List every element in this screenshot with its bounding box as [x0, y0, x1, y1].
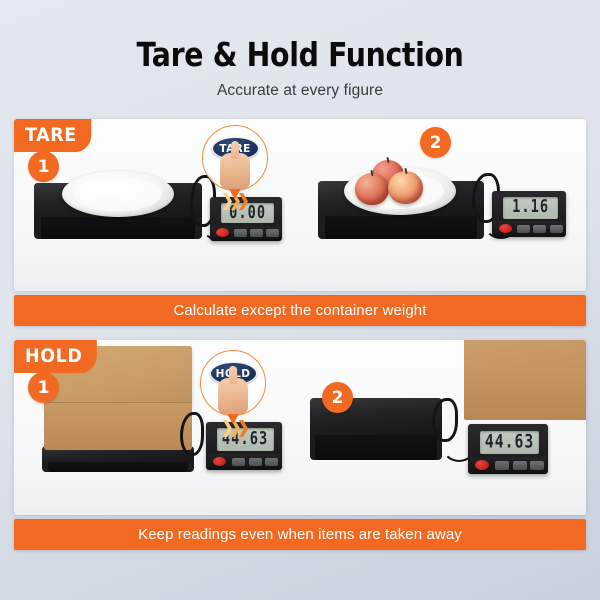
- page-title: Tare & Hold Function: [42, 38, 558, 71]
- function-button-1[interactable]: [517, 225, 530, 233]
- hold-caption-bar: Keep readings even when items are taken …: [14, 519, 586, 550]
- function-button-1[interactable]: [495, 461, 509, 470]
- function-button-1[interactable]: [234, 229, 247, 237]
- apple-right: [388, 171, 423, 204]
- function-button-2[interactable]: [250, 229, 263, 237]
- tare-tab-badge: TARE: [14, 119, 91, 152]
- function-button-2[interactable]: [533, 225, 546, 233]
- page-header: Tare & Hold Function Accurate at every f…: [0, 0, 600, 100]
- hold-step2-scene: 2 44.63: [300, 340, 586, 515]
- function-button-3[interactable]: [265, 458, 278, 466]
- step-number-badge: 1: [28, 372, 59, 403]
- scale-cable: [180, 412, 204, 456]
- pressing-hand-icon: [220, 153, 250, 189]
- scale-base: [48, 462, 188, 472]
- index-finger: [231, 141, 239, 159]
- scale-base: [41, 217, 196, 239]
- cardboard-box-front: [44, 402, 192, 450]
- function-button-2[interactable]: [249, 458, 262, 466]
- lcd-value: 44.63: [485, 431, 535, 453]
- power-button[interactable]: [213, 457, 226, 466]
- lcd-value: 1.16: [512, 198, 549, 218]
- scale-base: [325, 216, 478, 239]
- step-number-badge: 2: [420, 127, 451, 158]
- lcd-screen: 44.63: [480, 431, 539, 455]
- hold-photo-panel: HOLD 1 HOLD 44.63: [14, 340, 586, 515]
- chevron-icon-3: [239, 420, 248, 437]
- index-finger: [229, 366, 237, 384]
- power-button[interactable]: [499, 224, 512, 233]
- pressing-hand-icon: [218, 378, 248, 414]
- step-number-badge: 1: [28, 151, 59, 182]
- function-button-3[interactable]: [550, 225, 563, 233]
- display-head-unit: 44.63: [468, 424, 548, 474]
- tare-caption-bar: Calculate except the container weight: [14, 295, 586, 326]
- cardboard-box-front-offscale: [464, 368, 586, 420]
- tare-button-callout[interactable]: TARE: [202, 125, 268, 191]
- page-subtitle: Accurate at every figure: [0, 82, 600, 100]
- lcd-screen: 1.16: [503, 197, 558, 219]
- function-button-3[interactable]: [530, 461, 544, 470]
- white-plate: [62, 171, 174, 217]
- plate-inner-well: [74, 177, 161, 212]
- tare-photo-panel: TARE 1 TARE: [14, 119, 586, 291]
- callout-pointer-arrow: [229, 189, 241, 199]
- callout-pointer-arrow: [227, 414, 239, 424]
- cardboard-box-lid-offscale: [464, 340, 586, 370]
- step-number-badge: 2: [322, 382, 353, 413]
- hold-tab-badge: HOLD: [14, 340, 97, 373]
- hold-button-callout[interactable]: HOLD: [200, 350, 266, 416]
- tare-section: TARE 1 TARE: [14, 119, 586, 326]
- scale-base: [315, 435, 436, 460]
- tare-step2-scene: 2 1.16: [300, 119, 586, 291]
- function-button-1[interactable]: [232, 458, 245, 466]
- hold-section: HOLD 1 HOLD 44.63: [14, 340, 586, 550]
- function-button-3[interactable]: [266, 229, 279, 237]
- apple-left: [355, 173, 389, 205]
- display-head-unit: 1.16: [492, 191, 566, 237]
- function-button-2[interactable]: [513, 461, 527, 470]
